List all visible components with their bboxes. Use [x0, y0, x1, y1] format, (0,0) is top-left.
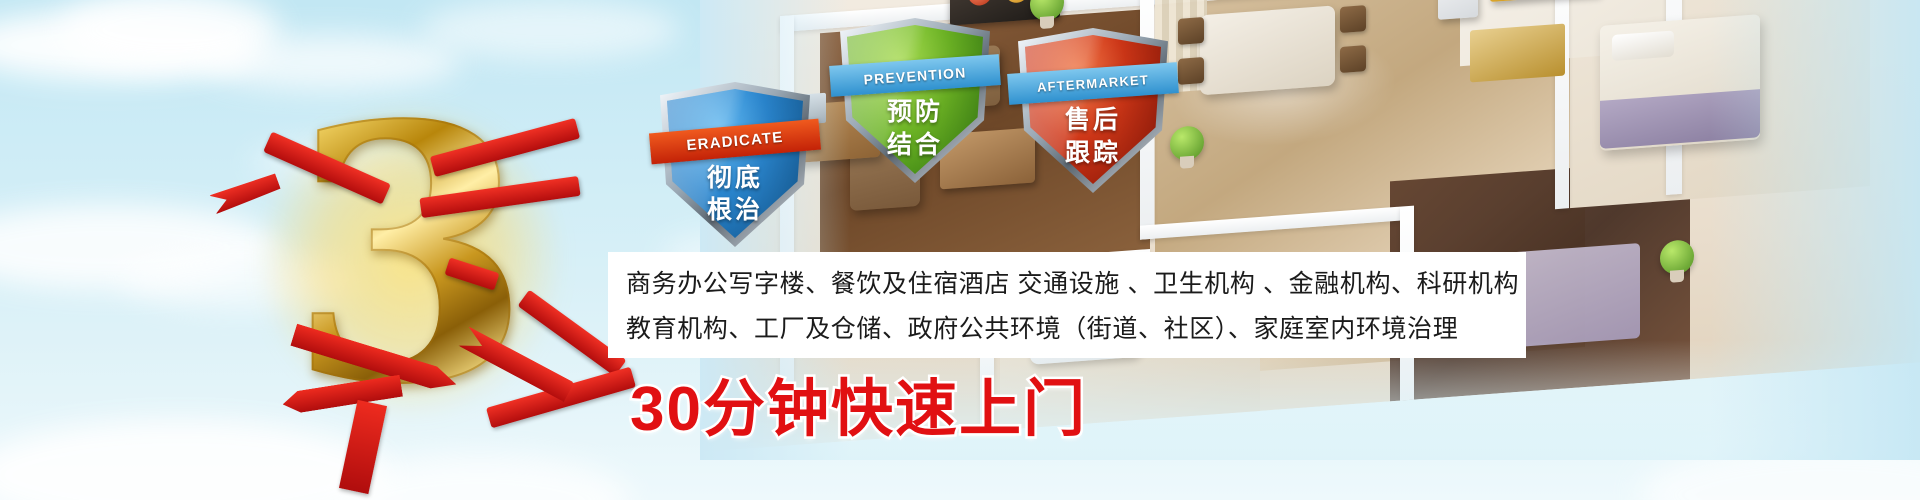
- dining-chair: [1340, 45, 1366, 73]
- shield-cn-line-2: 结合: [840, 125, 990, 161]
- shield-badge-prevention[interactable]: 预防 结合 PREVENTION: [840, 18, 990, 183]
- stove: [1470, 23, 1565, 82]
- dining-chair: [1340, 5, 1366, 33]
- shield-cn-line-2: 根治: [660, 190, 810, 226]
- shield-cn-line-1: 彻底: [660, 158, 810, 194]
- shield-cn-line-1: 售后: [1018, 100, 1168, 136]
- service-scope-line-2: 教育机构、工厂及仓储、政府公共环境（街道、社区）、家庭室内环境治理: [626, 307, 1512, 352]
- shield-ribbon-label: AFTERMARKET: [1037, 72, 1150, 95]
- cloud-icon: [1640, 440, 1920, 500]
- shield-cn-line-2: 跟踪: [1018, 133, 1168, 169]
- promo-banner: 3 彻底 根治 ERADICATE 预防 结合 PREVENTION: [0, 0, 1920, 500]
- shield-badge-aftermarket[interactable]: 售后 跟踪 AFTERMARKET: [1018, 28, 1168, 193]
- range-hood: [1438, 0, 1478, 20]
- shield-badge-eradicate[interactable]: 彻底 根治 ERADICATE: [660, 82, 810, 247]
- pillow: [1612, 30, 1674, 61]
- dining-chair: [1178, 57, 1204, 85]
- dining-chair: [1178, 17, 1204, 45]
- shield-ribbon-label: PREVENTION: [863, 64, 967, 87]
- service-scope-line-1: 商务办公写字楼、餐饮及住宿酒店 交通设施 、卫生机构 、金融机构、科研机构: [626, 262, 1512, 307]
- headline-text: 30分钟快速上门: [630, 358, 1087, 448]
- service-scope-panel: 商务办公写字楼、餐饮及住宿酒店 交通设施 、卫生机构 、金融机构、科研机构 教育…: [608, 252, 1526, 358]
- dining-table: [1200, 5, 1335, 95]
- shield-cn-line-1: 预防: [840, 92, 990, 128]
- shield-ribbon-label: ERADICATE: [686, 129, 784, 154]
- red-arrow-ribbon: [290, 330, 590, 450]
